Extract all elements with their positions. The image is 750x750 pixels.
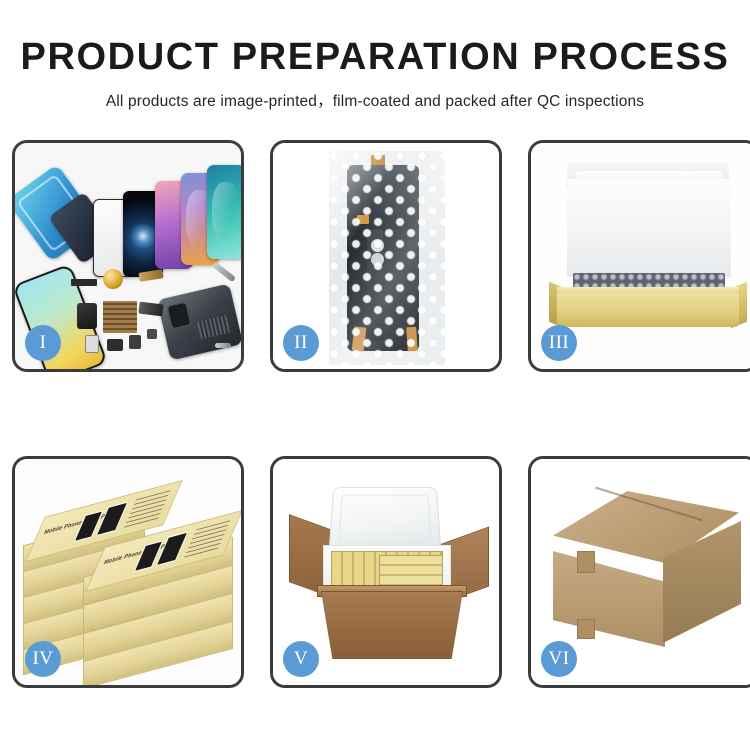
- foam-box-lid: [329, 487, 442, 552]
- box-front-face: [557, 293, 739, 327]
- small-part-3: [129, 335, 141, 349]
- flex-cable-part-2: [77, 303, 97, 329]
- box-stack: Mobile Phone Spare Parts Mobile Phone Sp…: [21, 485, 237, 669]
- step-panel-3[interactable]: III: [528, 140, 750, 372]
- step-panel-5[interactable]: V: [270, 456, 502, 688]
- carton-tape-upper: [577, 551, 595, 573]
- bubble-wrap-bag: [329, 151, 445, 365]
- step-panel-4[interactable]: Mobile Phone Spare Parts Mobile Phone Sp…: [12, 456, 244, 688]
- step-panel-6[interactable]: VI: [528, 456, 750, 688]
- step-badge-5: V: [283, 641, 319, 677]
- step-badge-4: IV: [25, 641, 61, 677]
- gold-component-icon: [103, 269, 123, 289]
- page-header: PRODUCT PREPARATION PROCESS All products…: [0, 0, 750, 111]
- foam-sheet: [567, 179, 731, 277]
- box-print-textlines-rear: [124, 490, 171, 529]
- step-panel-1[interactable]: I: [12, 140, 244, 372]
- step-badge-2: II: [283, 325, 319, 361]
- teal-phone: [207, 165, 241, 259]
- step-panel-2[interactable]: II: [270, 140, 502, 372]
- page-subtitle: All products are image-printed，film-coat…: [0, 89, 750, 111]
- small-part-2: [107, 339, 123, 351]
- carton-body: [321, 591, 463, 659]
- screw-part: [215, 343, 231, 348]
- step-badge-6: VI: [541, 641, 577, 677]
- step-badge-3: III: [541, 325, 577, 361]
- page-title: PRODUCT PREPARATION PROCESS: [0, 38, 750, 78]
- process-steps-grid: I II: [12, 140, 740, 688]
- small-part-1: [85, 335, 99, 353]
- small-part-4: [147, 329, 157, 339]
- carton-tape-lower: [577, 619, 595, 639]
- box-print-textlines-front: [184, 520, 231, 559]
- plastic-sheen: [329, 151, 445, 365]
- step-badge-1: I: [25, 325, 61, 361]
- connector-grid-part: [103, 301, 137, 333]
- speaker-bar-part: [71, 279, 97, 286]
